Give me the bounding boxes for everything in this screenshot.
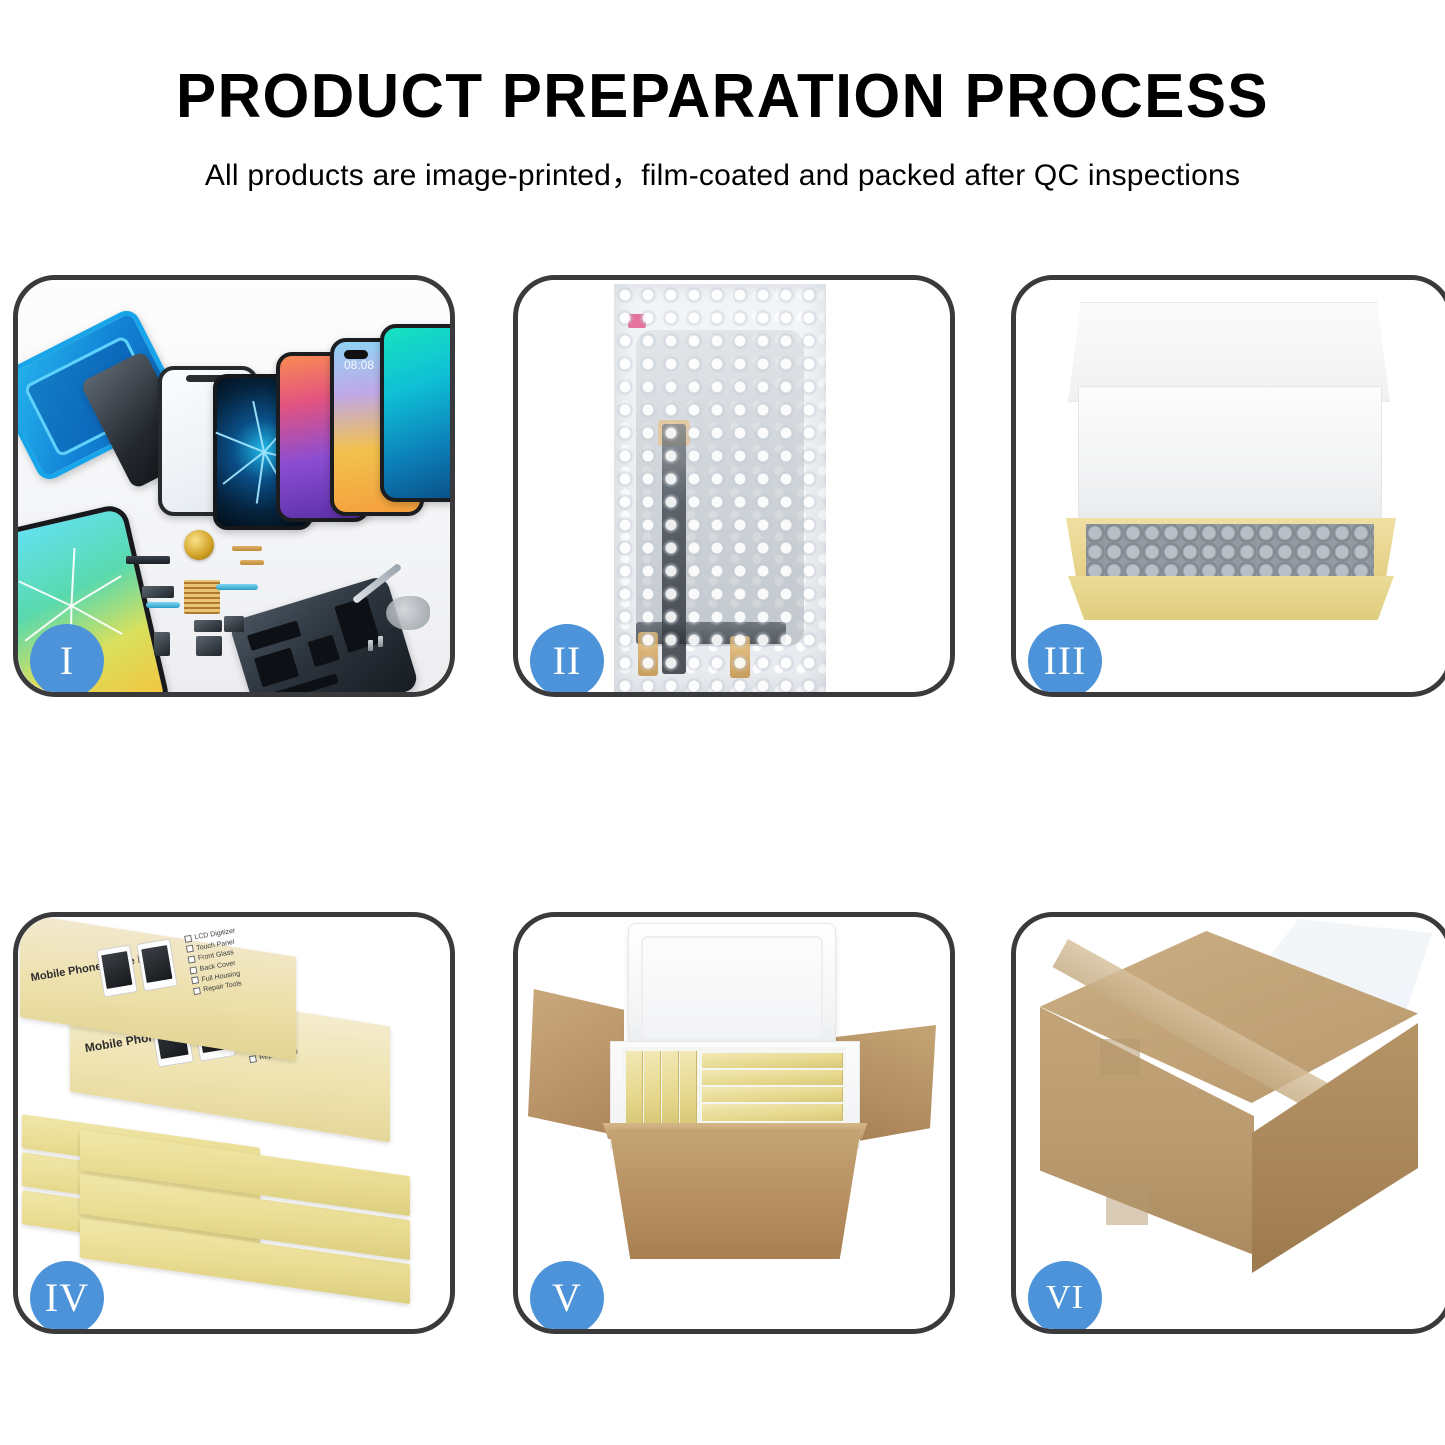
teal-swirl-phone bbox=[380, 324, 450, 502]
phone-clock-label: 08:08 bbox=[344, 358, 374, 372]
packed-retail-box bbox=[680, 1051, 697, 1123]
step-badge-1: I bbox=[30, 624, 104, 697]
page-title: PRODUCT PREPARATION PROCESS bbox=[22, 66, 1424, 128]
gray-bubble-wrap-fill bbox=[1086, 524, 1374, 582]
foam-lid bbox=[628, 923, 836, 1053]
packed-retail-box bbox=[702, 1104, 843, 1121]
step-badge-5: V bbox=[530, 1261, 604, 1334]
page-header: PRODUCT PREPARATION PROCESS All products… bbox=[0, 0, 1445, 194]
connector-part bbox=[142, 586, 174, 598]
step-badge-2: II bbox=[530, 624, 604, 697]
packed-retail-box bbox=[662, 1051, 679, 1123]
packing-tape-patch bbox=[1106, 1185, 1148, 1225]
box-front-wall bbox=[1068, 576, 1394, 620]
step-badge-6: VI bbox=[1028, 1261, 1102, 1334]
checkbox-icon bbox=[189, 966, 197, 974]
vibrator-part bbox=[196, 636, 222, 656]
packed-retail-box bbox=[702, 1070, 843, 1085]
process-step-panel-3: III bbox=[1011, 275, 1445, 697]
checkbox-icon bbox=[188, 955, 196, 963]
process-step-panel-2: II bbox=[513, 275, 955, 697]
checkbox-icon bbox=[184, 934, 192, 942]
packed-retail-box bbox=[702, 1053, 843, 1068]
phone-circuit-board bbox=[228, 575, 419, 692]
checkbox-icon bbox=[191, 976, 199, 984]
camera-module-part bbox=[224, 616, 244, 632]
box-checklist: LCD Digitizer Touch Panel Front Glass Ba… bbox=[184, 927, 245, 998]
flex-cable-part bbox=[232, 546, 262, 551]
process-step-panel-6: VI bbox=[1011, 912, 1445, 1334]
packing-tape-patch bbox=[1100, 1039, 1140, 1075]
packed-retail-box bbox=[626, 1051, 643, 1123]
speaker-part bbox=[184, 530, 214, 560]
packed-retail-box bbox=[702, 1087, 843, 1102]
screw-part bbox=[368, 640, 373, 651]
ribbon-cable-part bbox=[216, 584, 258, 590]
foam-cavity bbox=[622, 1047, 846, 1125]
checkbox-icon bbox=[193, 987, 201, 995]
cleaning-brush-tool bbox=[386, 596, 430, 630]
earpiece-mesh-part bbox=[126, 556, 170, 564]
carton-body bbox=[604, 1129, 866, 1259]
white-foam-sheet bbox=[1078, 386, 1382, 530]
process-step-panel-1: 08:08 bbox=[13, 275, 455, 697]
bubble-texture-overlay bbox=[614, 284, 826, 692]
process-step-panel-4: Mobile Phone Spare Parts LCD Digitizer T… bbox=[13, 912, 455, 1334]
step-badge-4: IV bbox=[30, 1261, 104, 1334]
flex-cable-part bbox=[240, 560, 264, 565]
bubble-wrap-bag bbox=[614, 284, 826, 692]
connector-part bbox=[194, 620, 222, 632]
sim-tray-grid-part bbox=[184, 580, 220, 614]
step-badge-3: III bbox=[1028, 624, 1102, 697]
process-step-grid: 08:08 bbox=[0, 275, 1445, 1375]
screw-part bbox=[378, 636, 383, 647]
page-subtitle: All products are image-printed，film-coat… bbox=[0, 128, 1445, 194]
packed-retail-box bbox=[644, 1051, 661, 1123]
checkbox-icon bbox=[186, 945, 194, 953]
process-step-panel-5: V bbox=[513, 912, 955, 1334]
ribbon-cable-part bbox=[146, 602, 180, 608]
checkbox-icon bbox=[249, 1055, 257, 1063]
sim-tray-part bbox=[154, 632, 170, 656]
